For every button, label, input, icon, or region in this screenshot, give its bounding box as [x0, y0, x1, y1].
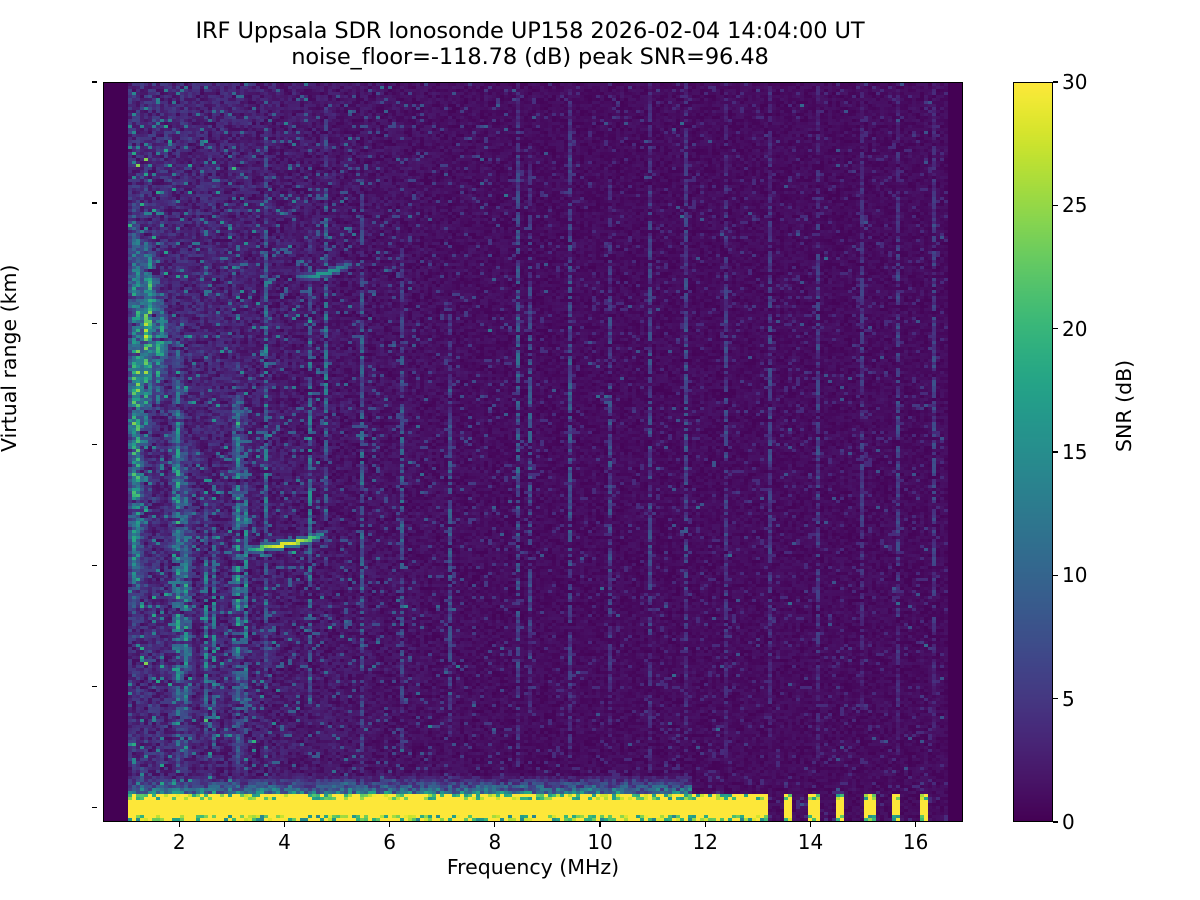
ionogram-figure: IRF Uppsala SDR Ionosonde UP158 2026-02-… [0, 0, 1200, 900]
y-tick-mark [92, 444, 97, 445]
figure-title: IRF Uppsala SDR Ionosonde UP158 2026-02-… [0, 18, 1060, 70]
y-tick-mark [92, 323, 97, 324]
colorbar-tick-mark [1053, 575, 1058, 576]
x-axis-label: Frequency (MHz) [103, 855, 963, 879]
y-tick-mark [92, 807, 97, 808]
colorbar-label: SNR (dB) [1112, 360, 1136, 452]
colorbar-tick-label: 30 [1062, 70, 1087, 94]
x-tick-label: 6 [350, 830, 430, 854]
colorbar-tick-label: 15 [1062, 440, 1087, 464]
x-tick-mark [810, 822, 811, 827]
colorbar-tick-mark [1053, 205, 1058, 206]
x-tick-label: 4 [244, 830, 324, 854]
x-tick-label: 16 [876, 830, 956, 854]
colorbar-tick-label: 25 [1062, 193, 1087, 217]
colorbar-tick-mark [1053, 698, 1058, 699]
ionogram-heatmap-canvas[interactable] [104, 83, 963, 822]
x-tick-mark [179, 822, 180, 827]
y-tick-mark [92, 686, 97, 687]
x-tick-mark [494, 822, 495, 827]
y-tick-mark [92, 565, 97, 566]
x-tick-label: 2 [139, 830, 219, 854]
y-axis-label: Virtual range (km) [0, 265, 21, 452]
x-tick-mark [599, 822, 600, 827]
colorbar-tick-mark [1053, 328, 1058, 329]
colorbar-tick-mark [1053, 821, 1058, 822]
colorbar-tick-label: 0 [1062, 810, 1075, 834]
title-line-1: IRF Uppsala SDR Ionosonde UP158 2026-02-… [0, 18, 1060, 44]
x-tick-mark [284, 822, 285, 827]
x-tick-mark [389, 822, 390, 827]
colorbar-gradient [1014, 83, 1052, 821]
colorbar-tick-mark [1053, 451, 1058, 452]
x-tick-mark [705, 822, 706, 827]
colorbar-tick-label: 10 [1062, 563, 1087, 587]
x-tick-mark [915, 822, 916, 827]
x-tick-label: 10 [560, 830, 640, 854]
colorbar-tick-mark [1053, 81, 1058, 82]
y-tick-mark [92, 202, 97, 203]
x-tick-label: 14 [770, 830, 850, 854]
colorbar-tick-label: 5 [1062, 687, 1075, 711]
x-tick-label: 12 [665, 830, 745, 854]
y-tick-mark [92, 81, 97, 82]
x-tick-label: 8 [455, 830, 535, 854]
title-line-2: noise_floor=-118.78 (dB) peak SNR=96.48 [0, 44, 1060, 70]
colorbar-tick-label: 20 [1062, 317, 1087, 341]
colorbar[interactable] [1013, 82, 1053, 822]
ionogram-plot-area[interactable] [103, 82, 963, 822]
